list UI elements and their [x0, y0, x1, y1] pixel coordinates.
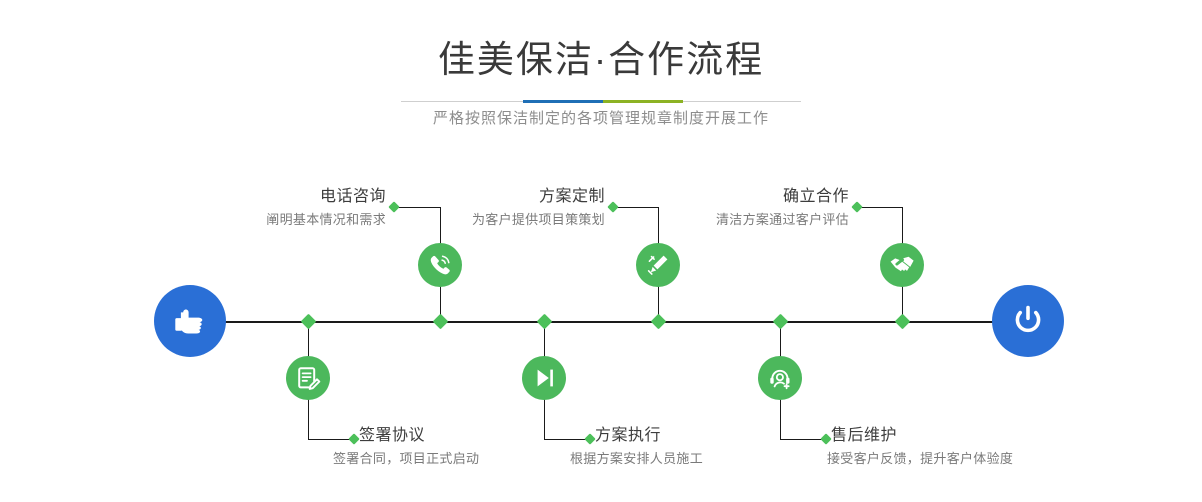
step-label-4: 方案执行 根据方案安排人员施工	[595, 425, 703, 469]
pointing-hand-icon	[170, 301, 210, 341]
connector-hline-5	[857, 207, 903, 208]
step-label-6: 售后维护 接受客户反馈，提升客户体验度	[831, 425, 1013, 469]
step-label-5: 确立合作 清洁方案通过客户评估	[674, 186, 849, 230]
connector-hline-3	[613, 207, 659, 208]
step-title-1: 电话咨询	[190, 186, 386, 208]
step-desc-4: 根据方案安排人员施工	[570, 449, 703, 469]
connector-hline-4	[544, 439, 590, 440]
flow-diagram-canvas: 佳美保洁·合作流程 严格按照保洁制定的各项管理规章制度开展工作	[0, 0, 1202, 502]
axis-node-2	[301, 314, 317, 330]
step-desc-5: 清洁方案通过客户评估	[674, 210, 849, 230]
pencil-plan-icon	[645, 252, 671, 278]
step-icon-2[interactable]	[286, 356, 330, 400]
step-title-3: 方案定制	[430, 186, 605, 208]
step-desc-1: 阐明基本情况和需求	[190, 210, 386, 230]
step-icon-1[interactable]	[418, 243, 462, 287]
step-icon-6[interactable]	[758, 356, 802, 400]
connector-hline-6	[780, 439, 826, 440]
handshake-icon	[888, 251, 916, 279]
play-skip-icon	[531, 365, 557, 391]
divider-segment-green	[603, 100, 683, 103]
step-icon-3[interactable]	[636, 243, 680, 287]
step-label-3: 方案定制 为客户提供项目策策划	[430, 186, 605, 230]
phone-call-icon	[427, 252, 453, 278]
connector-hline-2	[308, 439, 354, 440]
document-edit-icon	[295, 365, 321, 391]
timeline-axis	[205, 321, 1000, 323]
power-icon	[1007, 300, 1049, 342]
label-marker-6	[820, 433, 831, 444]
flow-end-marker	[992, 285, 1064, 357]
divider-segment-blue	[523, 100, 603, 103]
axis-node-5	[895, 314, 911, 330]
axis-node-1	[433, 314, 449, 330]
step-icon-4[interactable]	[522, 356, 566, 400]
label-marker-2	[348, 433, 359, 444]
title-divider	[401, 100, 801, 103]
axis-node-6	[773, 314, 789, 330]
label-marker-5	[851, 201, 862, 212]
step-title-4: 方案执行	[595, 425, 703, 447]
axis-node-3	[651, 314, 667, 330]
step-title-5: 确立合作	[674, 186, 849, 208]
label-marker-1	[388, 201, 399, 212]
label-marker-4	[584, 433, 595, 444]
flow-start-marker	[154, 285, 226, 357]
page-subtitle: 严格按照保洁制定的各项管理规章制度开展工作	[0, 108, 1202, 130]
axis-node-4	[537, 314, 553, 330]
step-desc-6: 接受客户反馈，提升客户体验度	[827, 449, 1013, 469]
step-title-6: 售后维护	[831, 425, 1013, 447]
step-desc-2: 签署合同，项目正式启动	[333, 449, 479, 469]
step-desc-3: 为客户提供项目策策划	[430, 210, 605, 230]
step-title-2: 签署协议	[359, 425, 479, 447]
step-label-1: 电话咨询 阐明基本情况和需求	[190, 186, 386, 230]
step-icon-5[interactable]	[880, 243, 924, 287]
step-label-2: 签署协议 签署合同，项目正式启动	[359, 425, 479, 469]
label-marker-3	[607, 201, 618, 212]
customer-service-icon	[767, 365, 794, 392]
page-title: 佳美保洁·合作流程	[0, 38, 1202, 82]
